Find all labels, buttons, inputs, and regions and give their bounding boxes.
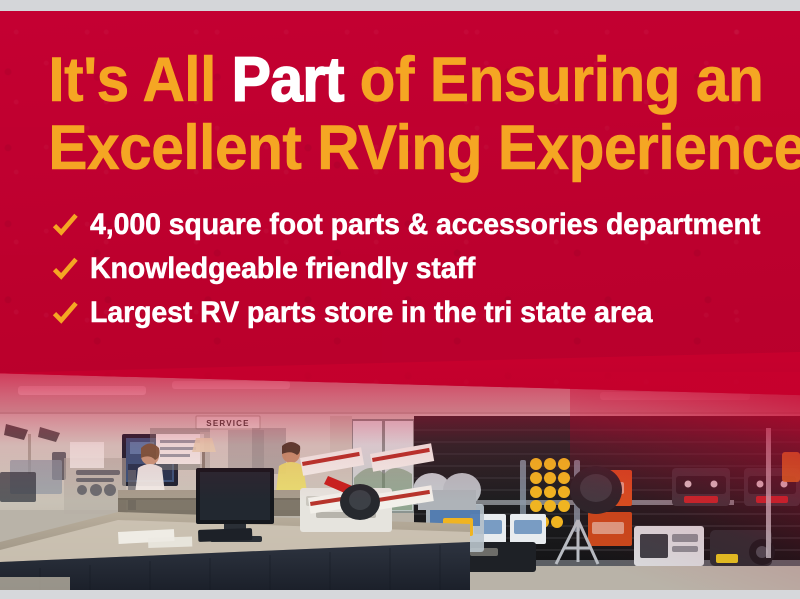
check-icon <box>50 254 80 284</box>
feature-bullet-list: 4,000 square foot parts & accessories de… <box>0 184 800 328</box>
headline-line-2: Excellent RVing Experience! <box>48 112 744 184</box>
headline-line1-before: It's All <box>48 45 231 115</box>
store-interior-photo: SERVICE <box>0 372 800 590</box>
page-title: It's All Part of Ensuring an Excellent R… <box>0 44 744 184</box>
promo-banner: SERVICE <box>0 0 800 599</box>
top-rail <box>0 0 800 11</box>
svg-text:SERVICE: SERVICE <box>206 419 249 428</box>
list-item-label: 4,000 square foot parts & accessories de… <box>90 210 760 240</box>
check-icon <box>50 298 80 328</box>
list-item: Knowledgeable friendly staff <box>50 254 800 284</box>
list-item: Largest RV parts store in the tri state … <box>50 298 800 328</box>
check-icon <box>50 210 80 240</box>
headline-highlight-part: Part <box>232 45 344 115</box>
list-item-label: Knowledgeable friendly staff <box>90 254 475 284</box>
store-photo-artwork: SERVICE <box>0 372 800 590</box>
banner-content: It's All Part of Ensuring an Excellent R… <box>0 11 800 342</box>
headline-line-1: It's All Part of Ensuring an <box>48 44 744 116</box>
bottom-rail <box>0 590 800 599</box>
headline-line1-after: of Ensuring an <box>344 45 763 115</box>
list-item-label: Largest RV parts store in the tri state … <box>90 298 652 328</box>
list-item: 4,000 square foot parts & accessories de… <box>50 210 800 240</box>
